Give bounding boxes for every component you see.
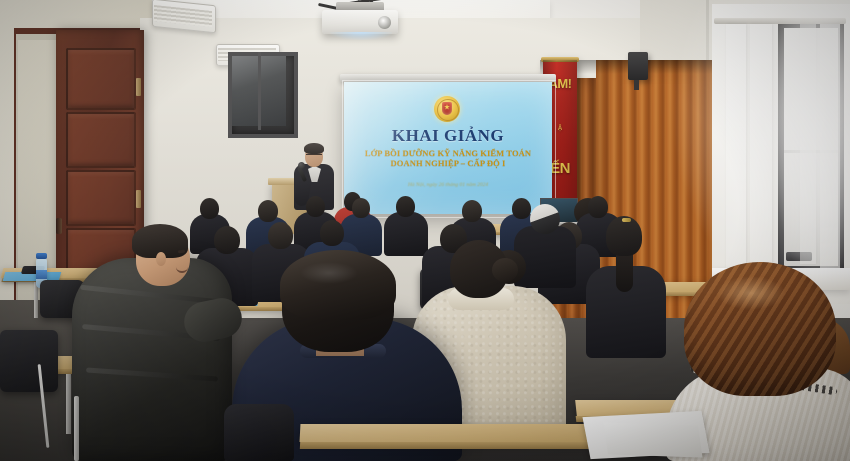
attendee-cap-head [530, 204, 560, 234]
hair-highlight [716, 276, 786, 310]
desk-edge [300, 442, 600, 449]
glasses-icon [306, 154, 322, 159]
attendee-head [320, 220, 344, 246]
door-hinge-icon [136, 190, 141, 208]
wall-speaker-icon [628, 52, 648, 80]
speaker-mount [634, 80, 639, 90]
vertical-blinds[interactable] [750, 24, 772, 270]
microphone-head-icon [298, 162, 305, 169]
desk-leg [66, 374, 71, 434]
attendee-back-row [384, 212, 428, 256]
hair-bun [492, 258, 518, 282]
attendee-head [606, 216, 642, 256]
attendee-head [214, 226, 240, 254]
door-panel [66, 112, 136, 168]
document-papers [603, 422, 702, 457]
attendee-hair [280, 250, 396, 320]
door-panel [66, 48, 136, 110]
attendee-head [258, 200, 278, 222]
attendee-head [512, 198, 531, 219]
door-panel [66, 170, 136, 226]
attendee-head [352, 198, 370, 218]
bottle-label [36, 270, 47, 279]
black-office-chair [0, 330, 58, 392]
attendee-head [462, 200, 482, 222]
presenter-hair [304, 143, 324, 154]
attendee-head [306, 196, 325, 217]
projector-lens-icon [378, 16, 391, 29]
vertical-blinds[interactable] [726, 24, 746, 270]
attendee-head [396, 196, 415, 217]
window-light-glow [770, 10, 850, 290]
photo-scene: ÂM! Ậ ẾN KHAI GIẢNG LỚP BỒI DƯỠNG KỸ NĂN… [0, 0, 850, 461]
projector-glow [330, 32, 392, 40]
hair-highlight [300, 262, 358, 284]
door-hinge-icon [136, 78, 141, 96]
window-mullion [258, 52, 261, 130]
screen-border [342, 80, 556, 218]
attendee-head [200, 198, 219, 219]
hair-clip-icon [622, 218, 631, 222]
light-wood-desk [300, 424, 601, 442]
door-handle-icon[interactable] [56, 218, 62, 234]
shoulder-bag [224, 404, 294, 461]
bottle-cap [36, 253, 47, 259]
attendee-head [588, 196, 608, 218]
floor-pole [74, 396, 79, 461]
attendee-ear [156, 252, 166, 266]
attendee-head [268, 222, 293, 249]
